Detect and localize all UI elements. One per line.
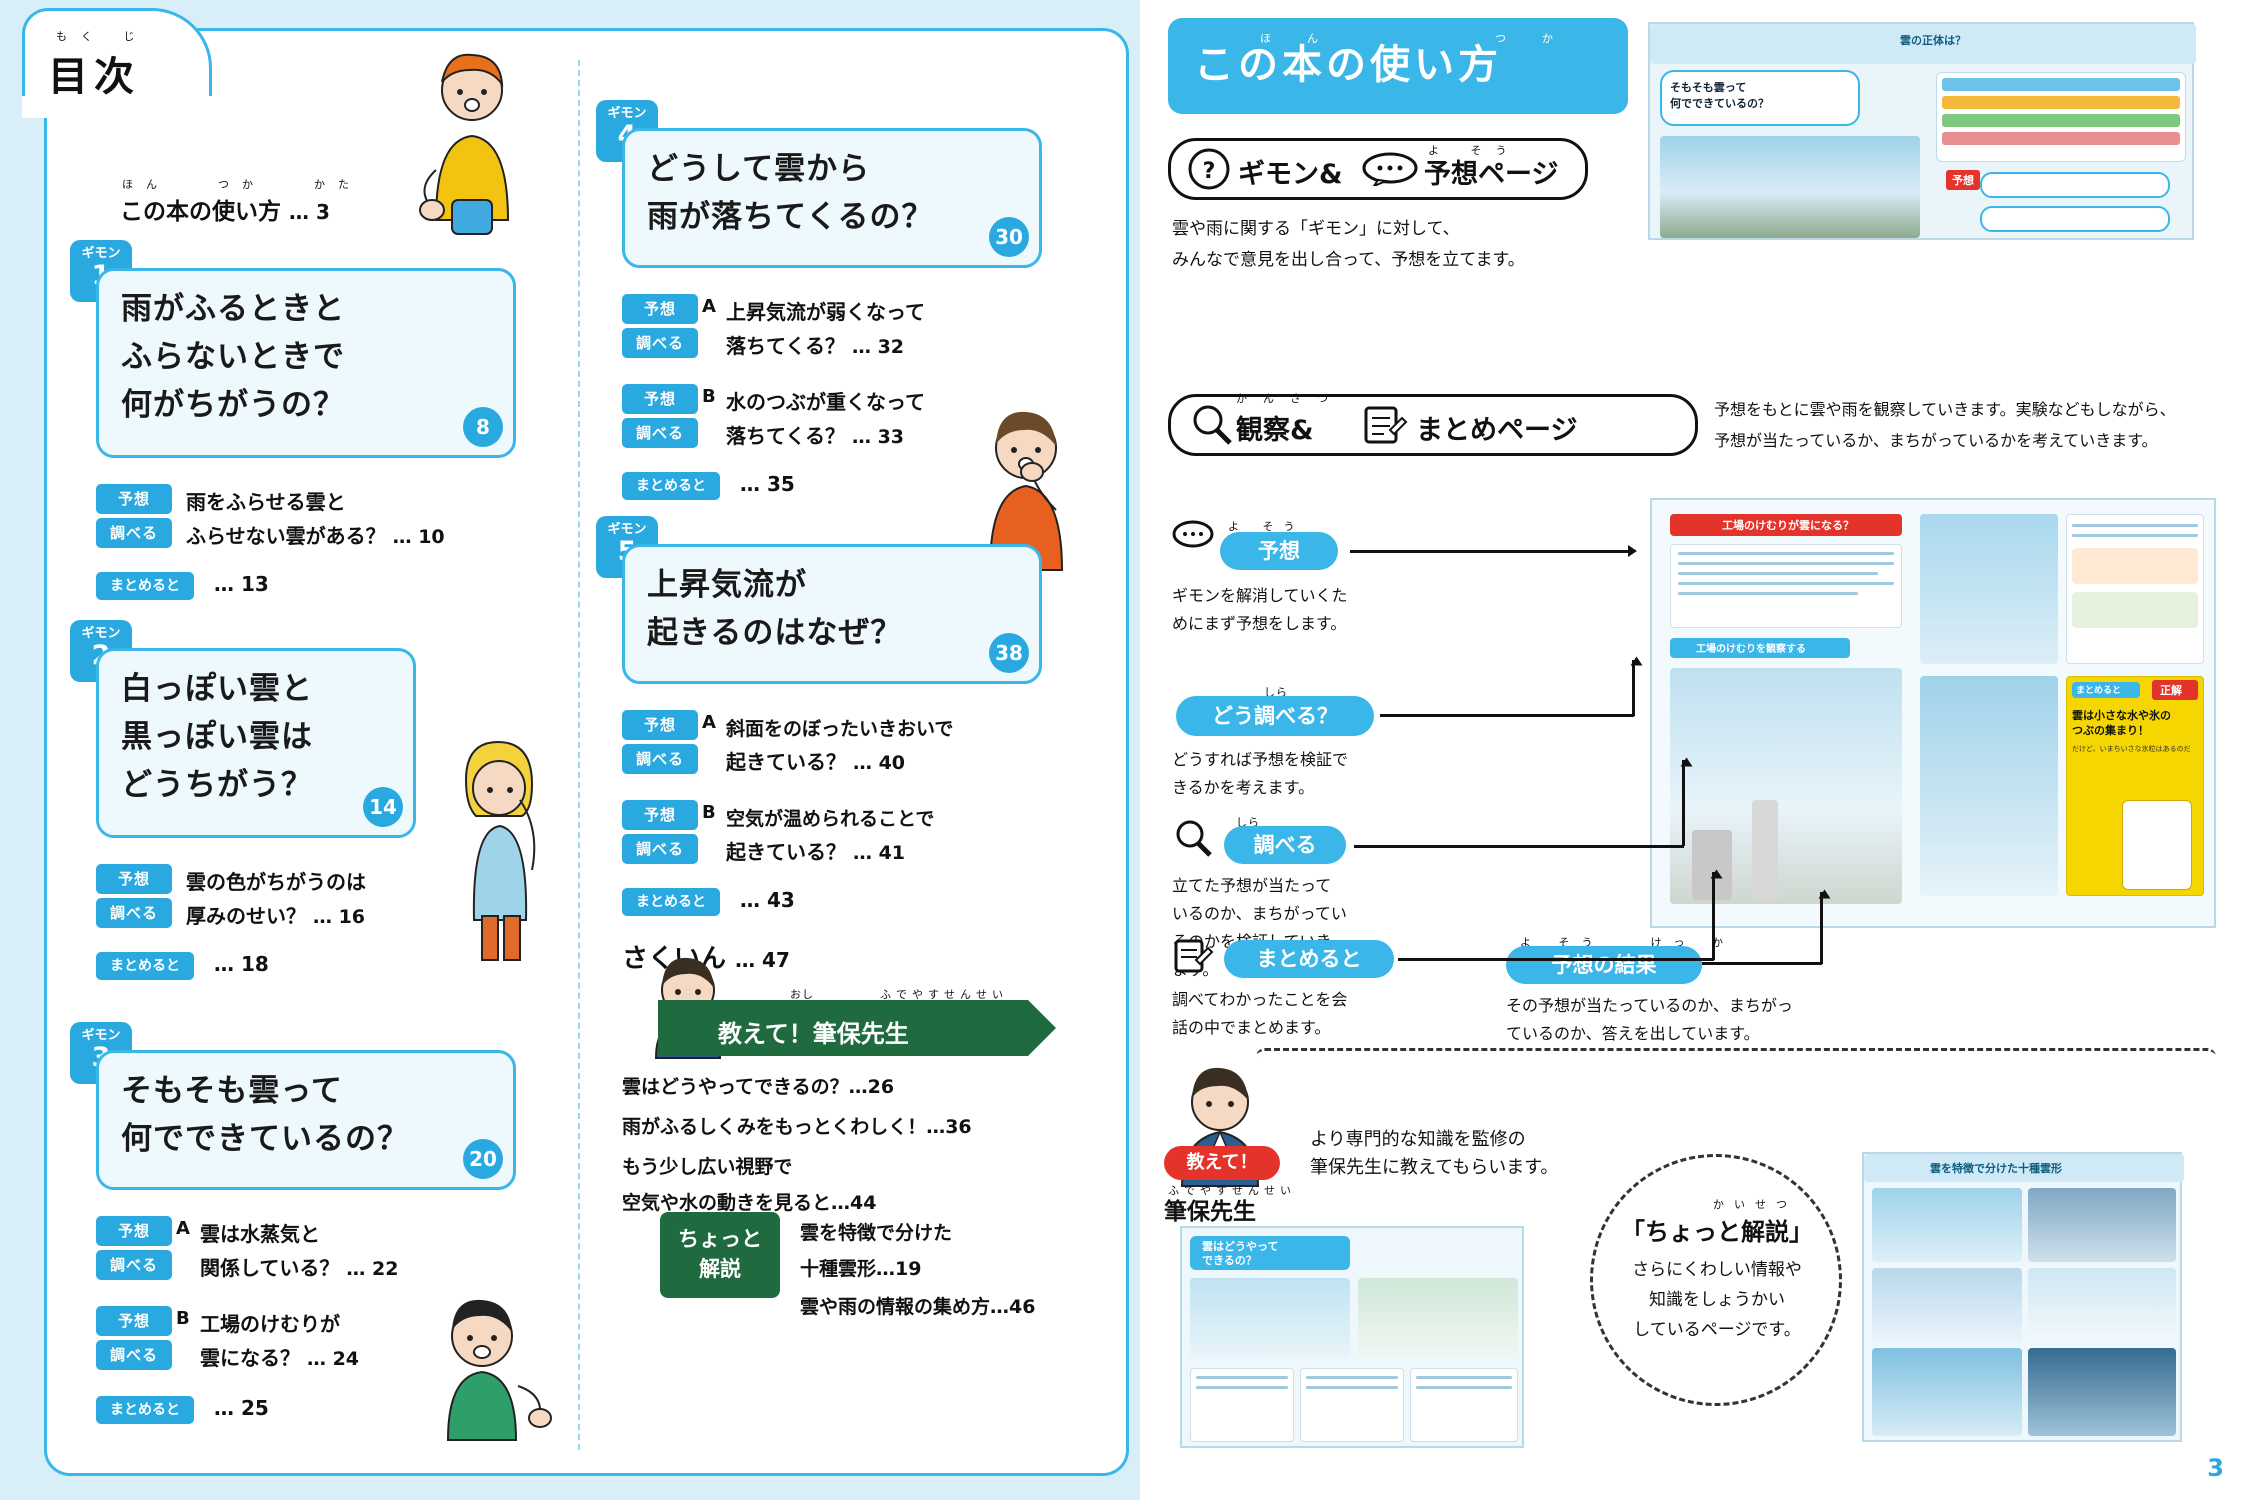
- thumbnail-kansatsu-spread: 工場のけむりが雲になる？ 工場のけむりを観察する まとめると 正解 雲は: [1650, 498, 2216, 928]
- thumbnail-bottom-left-title: 雲はどうやって できるの？: [1202, 1240, 1278, 1268]
- gimon-4-predB-badge: B: [702, 386, 716, 407]
- connector-3-arrow: [1711, 870, 1723, 879]
- note-pencil-icon: [1362, 404, 1410, 446]
- magnifier-icon-shirabe: [1172, 818, 1216, 858]
- connector-3b: [1712, 872, 1715, 960]
- choto-kaisetsu-box[interactable]: ちょっと 解説: [660, 1212, 780, 1298]
- thumbnail-top-header: 雲の正体は？: [1900, 32, 1966, 48]
- gimon-4-matome-tag: まとめると: [622, 472, 720, 500]
- gimon-3-predA-tag: 予想: [96, 1216, 172, 1246]
- callout-0-badge: 予想: [1220, 532, 1338, 570]
- choto-block-desc: さらにくわしい情報や 知識をしょうかい しているページです。: [1604, 1255, 1830, 1345]
- gimon-1-item-line1: 雨をふらせる雲と: [186, 486, 346, 515]
- gimon-4-itemA-page: … 32: [852, 336, 904, 358]
- gimon-3-itemA-line2: 関係している？ … 22: [200, 1252, 398, 1281]
- gimon-1-shirabe-tag: 調べる: [96, 518, 172, 548]
- how-to-use-title: この本の使い方: [1194, 32, 1502, 90]
- gimon-5-matome-tag: まとめると: [622, 888, 720, 916]
- thumbnail-spread-title: 工場のけむりが雲になる？: [1722, 517, 1854, 533]
- magnifier-icon: [1188, 402, 1234, 448]
- teacher-item-2[interactable]: もう少し広い視野で: [622, 1152, 792, 1179]
- gimon-5-shirabeA-tag: 調べる: [622, 744, 698, 774]
- toc-item-intro-label: この本の使い方: [120, 199, 281, 225]
- gimon-3-itemB-line2: 雲になる？ … 24: [200, 1342, 359, 1371]
- choto-block-title: 「ちょっと解説」: [1604, 1212, 1830, 1247]
- thumbnail-choto-page-right: 雲を特徴で分けた十種雲形: [1862, 1152, 2182, 1442]
- thumbnail-spread-sub2: まとめると: [2076, 683, 2121, 696]
- gimon-2-shirabe-tag: 調べる: [96, 898, 172, 928]
- gimon-3-shirabeB-tag: 調べる: [96, 1340, 172, 1370]
- svg-text:?: ?: [1203, 159, 1216, 184]
- gimon-3-itemA-page: … 22: [346, 1258, 398, 1280]
- thumbnail-answer-label: 正解: [2160, 682, 2182, 698]
- gimon-5-predB-badge: B: [702, 802, 716, 823]
- thumbnail-gimon-yosou-page: 雲の正体は？ そもそも雲って 何でできているの？ 予想: [1648, 22, 2194, 240]
- connector-1: [1380, 714, 1634, 717]
- thumbnail-choto-page-left: 雲はどうやって できるの？: [1180, 1226, 1524, 1448]
- speech-bubble-icon: [1362, 152, 1418, 186]
- choto-label-1: ちょっと: [660, 1224, 780, 1254]
- callout-1-text: どうすれば予想を検証で きるかを考えます。: [1172, 746, 1422, 802]
- thumbnail-spread-sub1: 工場のけむりを観察する: [1696, 640, 1806, 655]
- gimon-4-itemB-line1: 水のつぶが重くなって: [726, 386, 925, 415]
- gimon-4-predB-tag: 予想: [622, 384, 698, 414]
- gimon-3-predB-tag: 予想: [96, 1306, 172, 1336]
- gimon-3-matome-page: … 25: [214, 1396, 269, 1420]
- teacher-banner[interactable]: 教えて！筆保先生: [658, 1000, 1078, 1056]
- teacher-banner-ruby-1: おし: [790, 986, 814, 1002]
- toc-gimon-4-box[interactable]: どうして雲から 雨が落ちてくるの？ 30: [622, 128, 1042, 268]
- thumbnail-bottom-right-title: 雲を特徴で分けた十種雲形: [1930, 1160, 2062, 1176]
- gimon-5-lines: 上昇気流が 起きるのはなぜ？: [647, 561, 1023, 657]
- gimon-3-predA-badge: A: [176, 1218, 190, 1239]
- connector-4-arrow: [1819, 890, 1831, 899]
- callout-4-badge: 予想の結果: [1506, 946, 1702, 984]
- gimon-4-predA-tag: 予想: [622, 294, 698, 324]
- choto-block: かいせつ 「ちょっと解説」 さらにくわしい情報や 知識をしょうかい しているペー…: [1604, 1196, 1830, 1345]
- gimon-3-matome-tag: まとめると: [96, 1396, 194, 1424]
- connector-1-arrow: [1631, 657, 1643, 666]
- choto-item-0[interactable]: 雲を特徴で分けた: [800, 1218, 952, 1245]
- teacher-banner-ruby-2: ふでやすせんせい: [880, 986, 1008, 1002]
- section-1-label-2: 予想ページ: [1424, 152, 1558, 191]
- thumbnail-answer-text: 雲は小さな水や氷の つぶの集まり！: [2072, 708, 2200, 738]
- gimon-2-item-page: … 16: [313, 906, 365, 928]
- toc-item-sakuin-page: … 47: [735, 948, 790, 972]
- gimon-1-lines: 雨がふるときと ふらないときで 何がちがうの？: [121, 285, 497, 429]
- gimon-3-lines: そもそも雲って 何でできているの？: [121, 1067, 497, 1163]
- section-2-label-1-ruby: かんさつ: [1236, 390, 1344, 406]
- toc-tab-ruby: もく じ: [56, 28, 149, 44]
- gimon-2-lines: 白っぽい雲と 黒っぽい雲は どうちがう？: [121, 665, 397, 809]
- gimon-3-shirabeA-tag: 調べる: [96, 1250, 172, 1280]
- column-divider: [578, 60, 580, 1450]
- teacher-item-0[interactable]: 雲はどうやってできるの？…26: [622, 1072, 894, 1099]
- callout-3-badge: まとめると: [1224, 940, 1394, 978]
- gimon-4-lines: どうして雲から 雨が落ちてくるの？: [647, 145, 1023, 241]
- gimon-1-item-line2: ふらせない雲がある？ … 10: [186, 520, 445, 549]
- choto-item-2[interactable]: 雲や雨の情報の集め方…46: [800, 1292, 1035, 1319]
- gimon-4-itemA-line1: 上昇気流が弱くなって: [726, 296, 925, 325]
- gimon-5-predA-badge: A: [702, 712, 716, 733]
- teacher-badge-1: 教えて！: [1164, 1146, 1280, 1180]
- toc-gimon-3-box[interactable]: そもそも雲って 何でできているの？ 20: [96, 1050, 516, 1190]
- section-1-label-1: ギモン&: [1238, 152, 1343, 191]
- connector-0: [1350, 550, 1628, 553]
- toc-item-intro-page: … 3: [289, 200, 330, 224]
- gimon-3-itemB-line1: 工場のけむりが: [200, 1308, 340, 1337]
- toc-gimon-5-box[interactable]: 上昇気流が 起きるのはなぜ？ 38: [622, 544, 1042, 684]
- gimon-3-itemA-line1: 雲は水蒸気と: [200, 1218, 320, 1247]
- gimon-2-matome-tag: まとめると: [96, 952, 194, 980]
- page-number: 3: [2207, 1454, 2224, 1482]
- gimon-5-itemA-line1: 斜面をのぼったいきおいで: [726, 714, 953, 741]
- gimon-2-item-line2: 厚みのせい？ … 16: [186, 900, 365, 929]
- connector-4: [1702, 962, 1822, 965]
- left-page: もく じ 目次 ほん つか かた この本の使い方 … 3 ギモン 1 雨: [0, 0, 1140, 1500]
- gimon-4-shirabeB-tag: 調べる: [622, 418, 698, 448]
- note-pencil-icon-matome: [1172, 938, 1216, 976]
- callout-1-badge: どう調べる？: [1176, 696, 1374, 736]
- callout-4-text: その予想が当たっているのか、まちがっ ているのか、答えを出しています。: [1506, 992, 1836, 1048]
- teacher-badge-2: 筆保先生: [1164, 1192, 1256, 1226]
- gimon-4-matome-page: … 35: [740, 472, 795, 496]
- choto-item-1[interactable]: 十種雲形…19: [800, 1254, 921, 1281]
- gimon-5-itemA-page: … 40: [853, 752, 905, 774]
- section-2-label-2: まとめページ: [1416, 408, 1577, 447]
- gimon-4-shirabeA-tag: 調べる: [622, 328, 698, 358]
- section-2-label-1: 観察&: [1236, 408, 1314, 447]
- speech-bubble-icon-yosou: [1172, 520, 1214, 552]
- gimon-4-page: 30: [989, 217, 1029, 257]
- gimon-2-page: 14: [363, 787, 403, 827]
- connector-0-arrow: [1628, 545, 1637, 557]
- gimon-5-matome-page: … 43: [740, 888, 795, 912]
- toc-gimon-2-box[interactable]: 白っぽい雲と 黒っぽい雲は どうちがう？ 14: [96, 648, 416, 838]
- teacher-item-3[interactable]: 空気や水の動きを見ると…44: [622, 1188, 876, 1215]
- gimon-1-matome-page: … 13: [214, 572, 269, 596]
- connector-3: [1398, 958, 1714, 961]
- connector-4b: [1820, 892, 1823, 964]
- callout-0-text: ギモンを解消していくた めにまず予想をします。: [1172, 582, 1422, 638]
- gimon-4-itemB-page: … 33: [852, 426, 904, 448]
- toc-item-intro[interactable]: この本の使い方 … 3: [120, 192, 330, 226]
- book-spread: もく じ 目次 ほん つか かた この本の使い方 … 3 ギモン 1 雨: [0, 0, 2250, 1500]
- question-icon: ?: [1188, 148, 1230, 190]
- character-girl-blue: [436, 740, 566, 970]
- gimon-1-page: 8: [463, 407, 503, 447]
- page-title: 目次: [48, 44, 140, 102]
- connector-2-arrow: [1681, 758, 1693, 767]
- teacher-block-dash-divider: [1256, 1048, 2216, 1066]
- gimon-2-item-line1: 雲の色がちがうのは: [186, 866, 366, 895]
- connector-2: [1354, 845, 1684, 848]
- gimon-2-matome-page: … 18: [214, 952, 269, 976]
- gimon-1-pred-tag: 予想: [96, 484, 172, 514]
- gimon-2-pred-tag: 予想: [96, 864, 172, 894]
- teacher-banner-ribbon: 教えて！筆保先生: [658, 1000, 1028, 1056]
- right-page: ほん つか かた この本の使い方 雲の正体は？ そもそも雲って 何でできているの…: [1140, 0, 2250, 1500]
- thumbnail-top-caption: そもそも雲って 何でできているの？: [1670, 80, 1856, 112]
- gimon-5-itemB-line2: 起きている？ … 41: [726, 836, 905, 865]
- teacher-banner-label: 教えて！筆保先生: [718, 1014, 909, 1049]
- connector-1b: [1632, 660, 1635, 716]
- gimon-1-item-page: … 10: [393, 526, 445, 548]
- choto-label-2: 解説: [660, 1254, 780, 1284]
- gimon-3-predB-badge: B: [176, 1308, 190, 1329]
- gimon-4-itemB-line2: 落ちてくる？ … 33: [726, 420, 904, 449]
- gimon-3-page: 20: [463, 1139, 503, 1179]
- character-boy-yellow: [400, 50, 550, 240]
- gimon-5-shirabeB-tag: 調べる: [622, 834, 698, 864]
- gimon-4-predA-badge: A: [702, 296, 716, 317]
- gimon-1-matome-tag: まとめると: [96, 572, 194, 600]
- section-2-desc: 予想をもとに雲や雨を観察していきます。実験などもしながら、 予想が当たっているか…: [1714, 394, 2176, 456]
- connector-2b: [1682, 760, 1685, 846]
- gimon-5-predB-tag: 予想: [622, 800, 698, 830]
- intro-ruby: ほん つか かた: [122, 176, 362, 192]
- gimon-5-itemB-line1: 空気が温められることで: [726, 804, 934, 831]
- gimon-5-page: 38: [989, 633, 1029, 673]
- callout-3-text: 調べてわかったことを会 話の中でまとめます。: [1172, 986, 1442, 1042]
- toc-gimon-1-box[interactable]: 雨がふるときと ふらないときで 何がちがうの？ 8: [96, 268, 516, 458]
- gimon-5-itemB-page: … 41: [853, 842, 905, 864]
- callout-2-badge: 調べる: [1224, 826, 1346, 864]
- thumbnail-answer-sub: だけど、いまちいさな氷粒はあるのだ: [2072, 744, 2200, 754]
- character-boy-green: [412, 1290, 562, 1450]
- gimon-4-itemA-line2: 落ちてくる？ … 32: [726, 330, 904, 359]
- teacher-item-1[interactable]: 雨がふるしくみをもっとくわしく！…36: [622, 1112, 972, 1139]
- gimon-5-itemA-line2: 起きている？ … 40: [726, 746, 905, 775]
- gimon-3-itemB-page: … 24: [307, 1348, 359, 1370]
- gimon-5-predA-tag: 予想: [622, 710, 698, 740]
- section-1-desc: 雲や雨に関する「ギモン」に対して、 みんなで意見を出し合って、予想を立てます。: [1172, 214, 1525, 276]
- choto-block-title-ruby: かいせつ: [1642, 1196, 1868, 1212]
